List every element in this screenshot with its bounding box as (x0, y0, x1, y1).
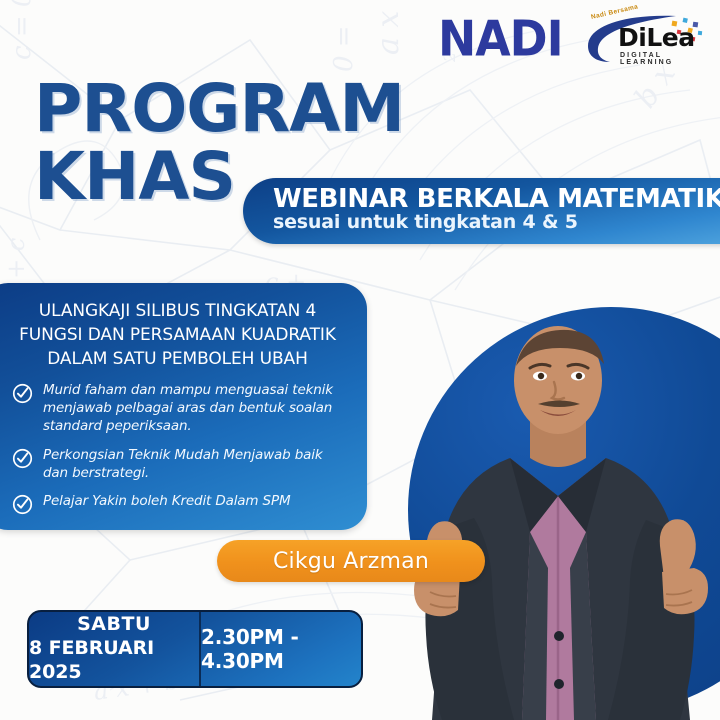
dilea-wordmark: DiLea (618, 25, 695, 50)
list-item-label: Murid faham dan mampu menguasai teknik m… (43, 382, 349, 435)
nadi-logo: NADI (438, 15, 563, 64)
speaker-name-label: Cikgu Arzman (273, 549, 429, 574)
poster-canvas: a x 2 0 = c = 0 c + x + c b x x + c = 0 … (0, 0, 720, 720)
list-item: Perkongsian Teknik Mudah Menjawab baik d… (12, 447, 349, 483)
speaker-name-badge: Cikgu Arzman (217, 540, 485, 582)
panel-heading: ULANGKAJI SILIBUS TINGKATAN 4 FUNGSI DAN… (6, 299, 349, 371)
check-circle-icon (12, 448, 33, 469)
webinar-subtitle: sesuai untuk tingkatan 4 & 5 (273, 212, 720, 233)
svg-text:a x: a x (371, 11, 406, 55)
webinar-banner: WEBINAR BERKALA MATEMATIK sesuai untuk t… (243, 178, 720, 244)
date-section: SABTU 8 FEBRUARI 2025 (29, 612, 201, 686)
time-section: 2.30PM - 4.30PM (201, 612, 361, 686)
panel-heading-line-1: ULANGKAJI SILIBUS TINGKATAN 4 (6, 299, 349, 323)
benefit-list: Murid faham dan mampu menguasai teknik m… (12, 382, 349, 515)
time-label: 2.30PM - 4.30PM (201, 625, 361, 673)
list-item-label: Perkongsian Teknik Mudah Menjawab baik d… (43, 447, 349, 483)
list-item: Murid faham dan mampu menguasai teknik m… (12, 382, 349, 435)
speaker-photo (398, 318, 720, 720)
list-item: Pelajar Yakin boleh Kredit Dalam SPM (12, 493, 349, 515)
dilea-tagline: DIGITAL LEARNING (620, 52, 706, 66)
svg-text:0 =: 0 = (329, 25, 359, 72)
headline-line-1: PROGRAM (34, 78, 404, 140)
date-label: 8 FEBRUARI 2025 (29, 637, 199, 685)
panel-heading-line-3: DALAM SATU PEMBOLEH UBAH (6, 347, 349, 371)
webinar-title: WEBINAR BERKALA MATEMATIK (273, 185, 720, 213)
svg-text:c = 0: c = 0 (7, 0, 37, 60)
day-label: SABTU (77, 613, 151, 637)
logo-row: NADI Nadi Bersama DiLea DIGITAL LEARNING (438, 12, 706, 68)
check-circle-icon (12, 494, 33, 515)
list-item-label: Pelajar Yakin boleh Kredit Dalam SPM (43, 493, 290, 511)
content-panel: ULANGKAJI SILIBUS TINGKATAN 4 FUNGSI DAN… (0, 283, 367, 530)
check-circle-icon (12, 383, 33, 404)
datetime-box: SABTU 8 FEBRUARI 2025 2.30PM - 4.30PM (27, 610, 363, 688)
panel-heading-line-2: FUNGSI DAN PERSAMAAN KUADRATIK (6, 323, 349, 347)
dilea-logo: Nadi Bersama DiLea DIGITAL LEARNING (580, 12, 706, 68)
